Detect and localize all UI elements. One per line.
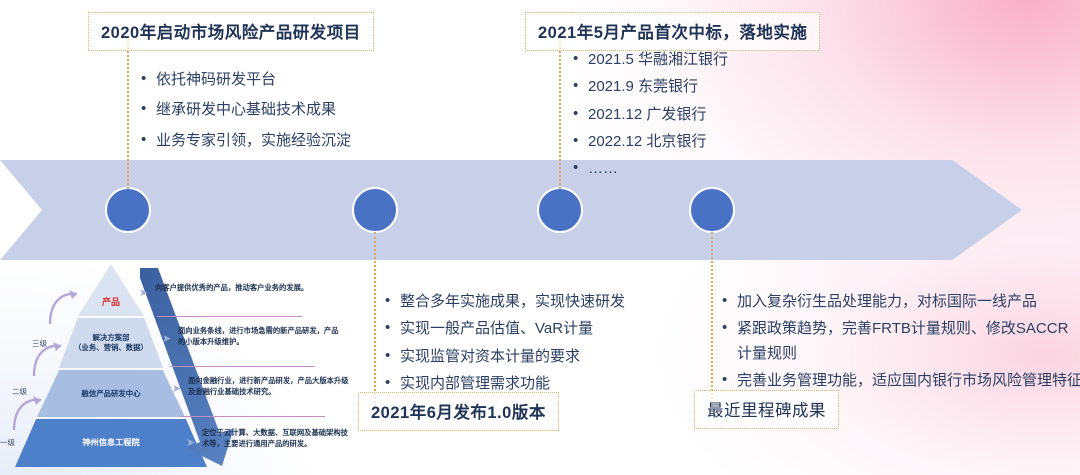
milestone-4-bullets: 加入复杂衍生品处理能力，对标国际一线产品 紧跟政策趋势，完善FRTB计量规则、修… (719, 290, 1069, 396)
slide-canvas: 2020年启动市场风险产品研发项目 依托神码研发平台 继承研发中心基础技术成果 … (0, 0, 1080, 475)
milestone-dot-1[interactable] (105, 187, 151, 233)
milestone-dot-2[interactable] (352, 187, 398, 233)
leader-line-milestone-1 (127, 36, 129, 189)
pyramid-level-institute-label: 神州信息工程院 (82, 437, 139, 448)
pyramid-desc-arrow-icon-3: ➤ (172, 384, 181, 395)
milestone-3-title[interactable]: 2021年5月产品首次中标，落地实施 (525, 12, 820, 51)
pyramid-desc-arrow-icon-4: ➤ (186, 438, 195, 449)
pyramid-description-2: 面向业务条线，进行市场急需的新产品研发，产品的小版本升级维护。 (178, 326, 343, 348)
list-item: 紧跟政策趋势，完善FRTB计量规则、修改SACCR计量规则 (737, 317, 1075, 366)
milestone-1-bullets: 依托神码研发平台 继承研发中心基础技术成果 业务专家引领，实施经验沉淀 (138, 68, 351, 159)
pyramid-level-rd-center-label: 融信产品研发中心 (81, 389, 140, 399)
milestone-3-bullets: 2021.5 华融湘江银行 2021.9 东莞银行 2021.12 广发银行 2… (570, 48, 728, 184)
leader-line-milestone-3 (559, 34, 561, 189)
pyramid-level-institute[interactable]: 神州信息工程院 (15, 419, 207, 467)
milestone-2-bullets: 整合多年实施成果，实现快速研发 实现一般产品估值、VaR计量 实现监管对资本计量… (382, 290, 625, 399)
pyramid-tier-label-1: 一级 (0, 437, 15, 448)
list-item: 依托神码研发平台 (156, 68, 351, 92)
pyramid-divider-1 (157, 316, 302, 317)
list-item: 2021.5 华融湘江银行 (588, 48, 728, 72)
milestone-dot-3[interactable] (537, 187, 583, 233)
milestone-4-title[interactable]: 最近里程碑成果 (694, 390, 839, 429)
list-item: 2021.9 东莞银行 (588, 75, 728, 99)
pyramid-level-product-label: 产品 (102, 296, 120, 308)
pyramid-description-4: 定位于云计算、大数据、互联网及基础架构技术等，主要进行通用产品的研发。 (202, 428, 352, 450)
pyramid-divider-3 (180, 416, 325, 417)
milestone-dot-4[interactable] (689, 187, 735, 233)
list-item: 实现监管对资本计量的要求 (400, 345, 625, 369)
list-item: 继承研发中心基础技术成果 (156, 98, 351, 122)
list-item: 加入复杂衍生品处理能力，对标国际一线产品 (737, 290, 1069, 314)
list-item: 实现一般产品估值、VaR计量 (400, 317, 625, 341)
list-item: 业务专家引领，实施经验沉淀 (156, 129, 351, 153)
pyramid-desc-arrow-icon-1: ➤ (139, 288, 148, 299)
leader-line-milestone-4 (711, 232, 713, 407)
leader-line-milestone-2 (374, 232, 376, 407)
pyramid-level-product[interactable]: 产品 (78, 264, 144, 316)
pyramid-description-1: 向客户提供优秀的产品，推动客户业务的发展。 (155, 283, 340, 294)
pyramid-desc-arrow-icon-2: ➤ (162, 334, 171, 345)
list-item: 2022.12 北京银行 (588, 130, 728, 154)
list-item: 整合多年实施成果，实现快速研发 (400, 290, 625, 314)
pyramid-divider-2 (170, 366, 315, 367)
milestone-2-title[interactable]: 2021年6月发布1.0版本 (358, 392, 559, 431)
pyramid-description-3: 面向金融行业，进行新产品研发，产品大版本升级及金融行业基础技术研究。 (188, 376, 350, 398)
pyramid-level-solution-dept-label: 解决方案部 （业务、营销、数据） (74, 333, 148, 353)
pyramid-level-rd-center[interactable]: 融信产品研发中心 (37, 370, 185, 417)
list-item: 2021.12 广发银行 (588, 103, 728, 127)
list-item: …… (588, 157, 728, 181)
milestone-1-title[interactable]: 2020年启动市场风险产品研发项目 (88, 12, 374, 51)
